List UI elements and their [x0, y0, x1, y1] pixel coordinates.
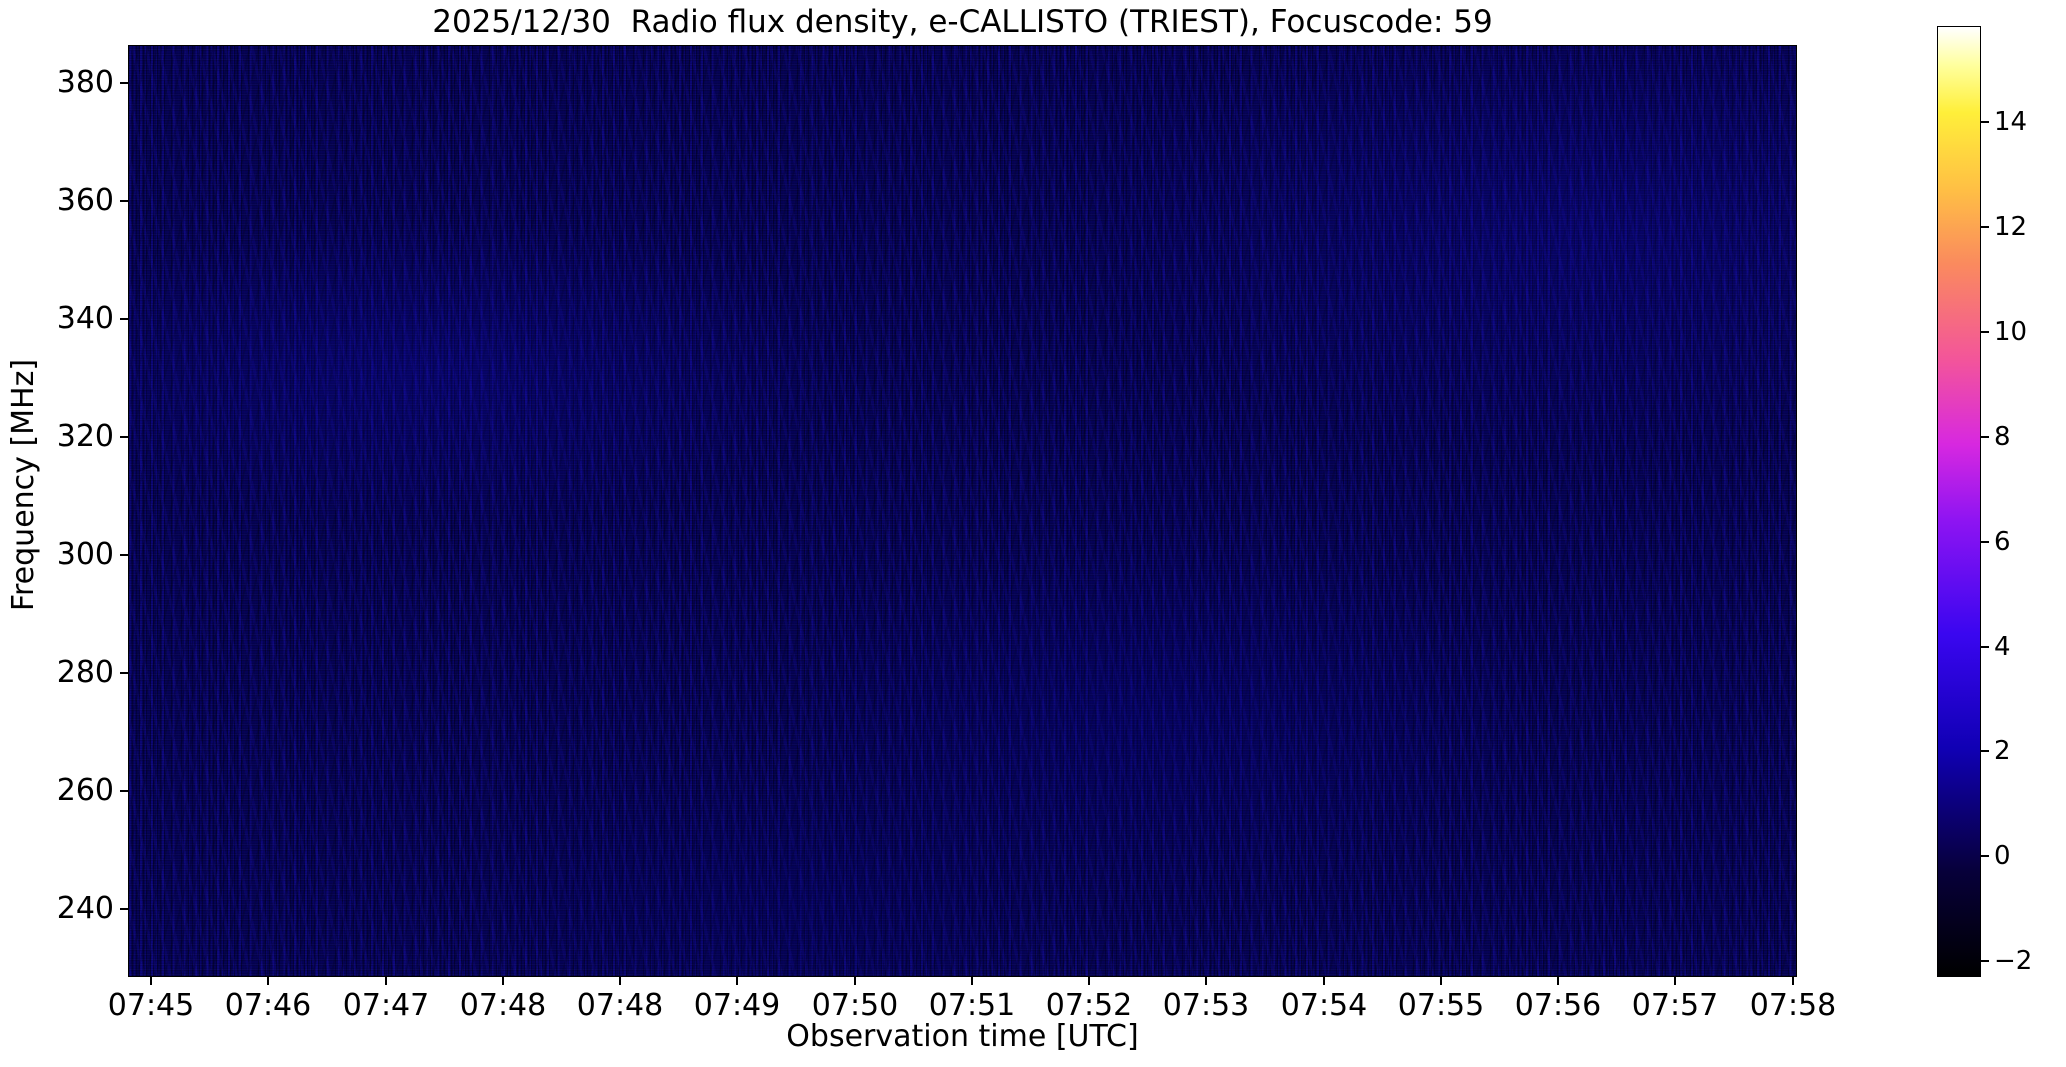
colorbar-tick-label: 12 [1994, 211, 2027, 243]
colorbar-tick-mark [1981, 121, 1989, 123]
x-axis-tick-mark [1557, 977, 1559, 985]
colorbar-tick-label: 10 [1994, 316, 2027, 348]
colorbar-tick-mark [1981, 960, 1989, 962]
x-axis-tick-mark [385, 977, 387, 985]
x-axis-tick-mark [736, 977, 738, 985]
colorbar-tick-label: 6 [1994, 526, 2011, 558]
colorbar-tick-mark [1981, 541, 1989, 543]
colorbar[interactable]: −202468101214 [1937, 26, 1981, 977]
colorbar-tick-mark [1981, 436, 1989, 438]
colorbar-tick-mark [1981, 750, 1989, 752]
x-axis-tick-mark [619, 977, 621, 985]
colorbar-tick-label: 2 [1994, 735, 2011, 767]
colorbar-tick-mark [1981, 855, 1989, 857]
colorbar-tick-mark [1981, 646, 1989, 648]
x-axis-tick-mark [1440, 977, 1442, 985]
colorbar-tick-mark [1981, 331, 1989, 333]
x-axis-tick-mark [854, 977, 856, 985]
x-axis-ticks: 07:4507:4607:4707:4807:4807:4907:5007:51… [0, 0, 2066, 1067]
colorbar-tick-label: 0 [1994, 840, 2011, 872]
x-axis-label: Observation time [UTC] [128, 1019, 1797, 1055]
x-axis-tick-mark [150, 977, 152, 985]
colorbar-ticks: −202468101214 [1937, 26, 1981, 977]
x-axis-tick-mark [1792, 977, 1794, 985]
colorbar-tick-label: 14 [1994, 106, 2027, 138]
colorbar-tick-label: −2 [1994, 945, 2032, 977]
colorbar-tick-label: 8 [1994, 421, 2011, 453]
x-axis-tick-mark [971, 977, 973, 985]
colorbar-tick-mark [1981, 226, 1989, 228]
x-axis-tick-mark [1323, 977, 1325, 985]
x-axis-tick-mark [1674, 977, 1676, 985]
x-axis-tick-mark [502, 977, 504, 985]
x-axis-tick-mark [267, 977, 269, 985]
colorbar-tick-label: 4 [1994, 631, 2011, 663]
x-axis-tick-mark [1088, 977, 1090, 985]
x-axis-tick-mark [1205, 977, 1207, 985]
